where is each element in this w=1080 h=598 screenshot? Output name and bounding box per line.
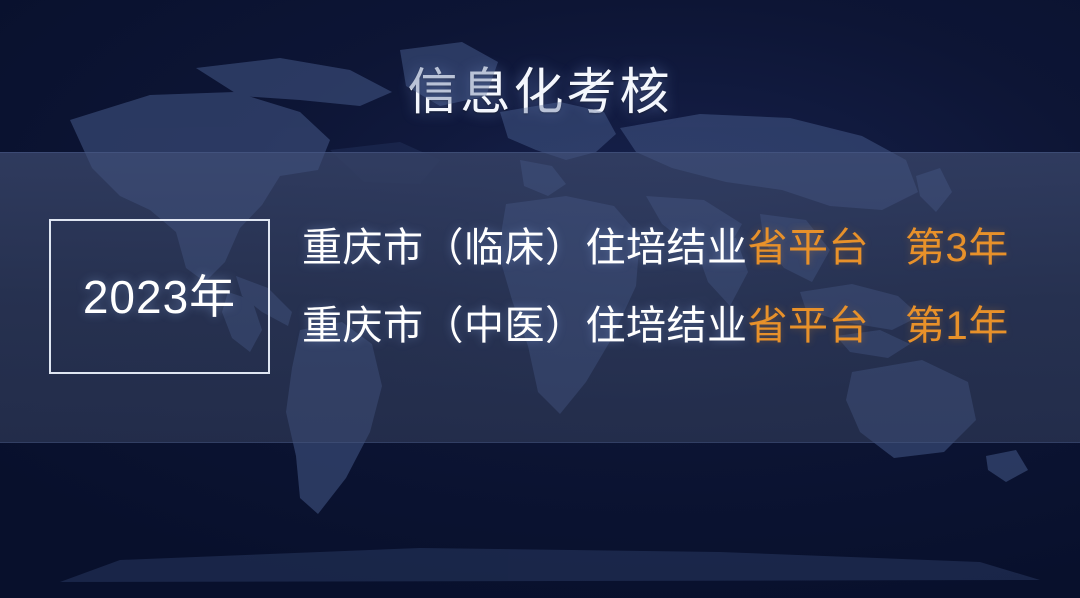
row-rank-label: 第3年 — [905, 225, 1009, 271]
row-program-name: 重庆市（中医）住培结业 — [302, 303, 748, 349]
row-program-name: 重庆市（临床）住培结业 — [302, 225, 748, 271]
list-item: 重庆市（中医）住培结业 省平台 第1年 — [302, 303, 1022, 381]
page-title: 信息化考核 — [0, 62, 1080, 122]
row-platform-label: 省平台 — [748, 303, 870, 349]
year-badge: 2023年 — [49, 219, 270, 374]
year-badge-label: 2023年 — [83, 271, 236, 323]
list-item: 重庆市（临床）住培结业 省平台 第3年 — [302, 225, 1022, 303]
row-rank-label: 第1年 — [905, 303, 1009, 349]
presentation-slide: 信息化考核 — [0, 0, 1080, 598]
assessment-list: 重庆市（临床）住培结业 省平台 第3年 重庆市（中医）住培结业 省平台 第1年 — [302, 225, 1022, 381]
row-platform-label: 省平台 — [748, 225, 870, 271]
